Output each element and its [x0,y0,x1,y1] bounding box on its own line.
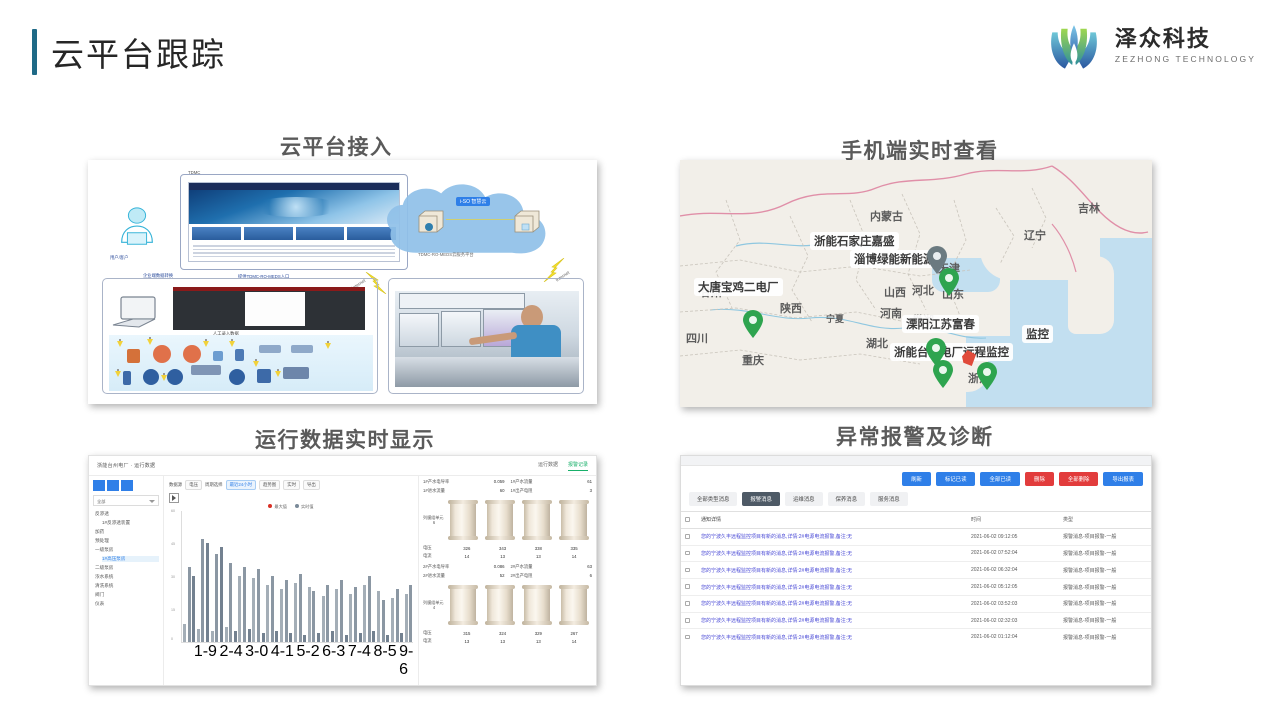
server-icon-2 [512,208,542,234]
valve-icon [117,339,123,347]
cloud-link-line [446,219,514,220]
alarm-table-row[interactable]: 您的宁波久丰远程监控项目有新的消息,详情:2#电源电流报警,备注:无2021-0… [681,579,1151,596]
alarm-message[interactable]: 您的宁波久丰远程监控项目有新的消息,详情:2#电源电流报警,备注:无 [697,595,967,612]
sidebar-tree-item[interactable]: 清洗系统 [95,583,159,589]
alarm-button-blue[interactable]: 导出报表 [1103,472,1143,486]
alarm-button-blue[interactable]: 刷新 [902,472,931,486]
alarm-button-red[interactable]: 全部删除 [1059,472,1099,486]
metric-label: 2#进水流量 [423,573,445,579]
chart-spike [285,580,288,642]
company-logo: 泽众科技 ZEZHONG TECHNOLOGY [1045,16,1256,74]
process-tank [291,345,313,353]
process-tank [283,367,309,379]
sidebar-tree-item[interactable]: 阀门 [95,592,159,598]
process-tank [127,349,140,363]
chart-spike [262,633,265,642]
chart-spike [257,569,260,642]
map-province-label: 四川 [686,330,708,346]
mobile-map-image: 内蒙古 吉林 辽宁 山西 河北 甘肃 陕西 河南 湖北 四川 重庆 巢湖 山东 … [680,160,1152,407]
chart-ytick: 45 [171,542,175,546]
current-row-1: 电流 14 13 13 14 [423,553,592,559]
row-checkbox-cell[interactable] [681,612,697,629]
membrane-module [524,585,550,625]
chart-spike [322,596,325,642]
chart-xtick: 5-2 [297,643,320,661]
alarm-time: 2021-06-02 09:12:05 [967,528,1059,545]
browser-hero-image [189,190,399,224]
cloud-tag-badge: i-SO 智慧云 [456,197,490,206]
current-value: 13 [500,554,505,559]
process-tank [235,349,244,361]
sidebar-tree-item[interactable]: 一级泵房 [95,547,159,553]
sidebar-select[interactable]: 全部 [93,495,159,506]
row-checkbox-cell[interactable] [681,629,697,645]
chart-spike [229,563,232,642]
map-province-label: 河南 [880,305,902,321]
membrane-module [524,500,550,540]
server-icon-1 [416,208,446,234]
portal-label: TDMC [188,170,200,175]
alarm-time: 2021-06-02 01:12:04 [967,629,1059,645]
metric-value: 52 [500,573,505,579]
map-pin-icon[interactable] [742,310,764,339]
control-room-photo [395,291,579,387]
alarm-tab[interactable]: 报警消息 [742,492,780,506]
chart-ytick: 60 [171,509,175,513]
sidebar-tree-item[interactable]: 1#反渗透装置 [102,520,159,526]
chart-toolbar-btn-export[interactable]: 导出 [303,480,320,490]
alarm-time: 2021-06-02 07:52:04 [967,545,1059,562]
chart-spike [271,576,274,642]
alarm-table-row[interactable]: 您的宁波久丰远程监控项目有新的消息,详情:2#电源电流报警,备注:无2021-0… [681,545,1151,562]
valve-icon [325,341,331,349]
tab-run-data[interactable]: 运行数据 [538,461,558,471]
chart-spike [396,589,399,642]
page-title: 云平台跟踪 [32,28,226,76]
chart-toolbar-select-range[interactable]: 最近24小时 [226,480,256,490]
portal-browser-mock [188,182,400,262]
sidebar-view-buttons[interactable] [93,480,159,491]
chart-spike [206,543,209,642]
checkbox-icon[interactable] [685,635,690,640]
chart-spike [299,574,302,642]
current-value: 14 [464,554,469,559]
alarm-tab[interactable]: 服务消息 [870,492,908,506]
voltage-value: 338 [535,546,542,551]
current-value: 13 [536,639,541,644]
metric-label: 2#产水电导率 [423,564,449,570]
alarm-type: 报警消息-项目报警-一般 [1059,545,1151,562]
chart-spike [386,635,389,642]
sidebar-tree-item[interactable]: 反渗透 [95,511,159,517]
platform-label: TDMC-RO-MEDS云服务平台 [418,252,474,258]
row-checkbox-cell[interactable] [681,579,697,596]
unit-value-1: 6 [423,520,445,525]
chart-spike [188,567,191,642]
lotus-logo-icon [1045,16,1103,74]
page-title-text: 云平台跟踪 [51,28,226,76]
filter-icon[interactable] [121,480,133,491]
chart-spike [248,629,251,642]
metric-label: 1#产水电导率 [423,479,449,485]
chart-xtick: 7-4 [348,643,371,661]
process-tank [167,369,183,385]
map-province-label: 陕西 [780,300,802,316]
voltage-row-2: 电压 315 324 329 267 [423,630,592,636]
cloud-architecture-image: 用户/客户 TDMC 提供TDMC-RO-MEDS入口 i-SO 智慧云 TDM… [88,160,597,404]
alarm-message[interactable]: 您的宁波久丰远程监控项目有新的消息,详情:2#电源电流报警,备注:无 [697,629,967,645]
chart-spike [354,587,357,642]
alarm-message[interactable]: 您的宁波久丰远程监控项目有新的消息,详情:2#电源电流报警,备注:无 [697,579,967,596]
realtime-dashboard-image: 浙能台州电厂 · 运行数据 运行数据 报警记录 全部 反渗透 1#反渗透装置 加… [88,455,597,686]
map-pin-icon[interactable] [938,268,960,297]
voltage-value: 315 [463,631,470,636]
chart-spike [335,589,338,642]
checkbox-icon[interactable] [685,568,690,573]
title-accent-bar [32,29,37,75]
alarm-table: 通知详情 时间 类型 您的宁波久丰远程监控项目有新的消息,详情:2#电源电流报警… [681,511,1151,645]
logo-text: 泽众科技 ZEZHONG TECHNOLOGY [1115,26,1256,63]
control-room-photo-frame: RO膜RO专家故障诊断 [388,278,584,394]
valve-icon [147,337,153,345]
membrane-module [450,500,476,540]
current-value: 14 [572,554,577,559]
alarm-window-titlebar [681,456,1151,466]
unit-label-2: 列膜组单元 [423,600,443,605]
chart-spike [220,547,223,642]
grid-icon[interactable] [107,480,119,491]
alarm-button-red[interactable]: 删除 [1025,472,1054,486]
alarm-button-blue[interactable]: 标记已读 [936,472,976,486]
metric-label: 2#产水流量 [511,564,533,570]
metric-value: 0.059 [494,479,505,485]
alarm-table-row[interactable]: 您的宁波久丰远程监控项目有新的消息,详情:2#电源电流报警,备注:无2021-0… [681,562,1151,579]
chart-spike [400,633,403,642]
sidebar-tree-item[interactable]: 仪表 [95,601,159,607]
play-button[interactable] [169,493,179,503]
chart-spike [192,576,195,642]
process-tank [183,345,201,363]
metric-row: 1#出产电阻3 [511,488,593,494]
process-tank [191,365,221,375]
col-header-time: 时间 [967,512,1059,529]
chart-toolbar: 数据源 电压 周期选择 最近24小时 趋势图 实时 导出 [169,480,413,490]
current-label: 电流 [423,638,449,644]
alarm-message[interactable]: 您的宁波久丰远程监控项目有新的消息,详情:2#电源电流报警,备注:无 [697,562,967,579]
alarm-table-image: 刷新标记已读全部已读删除全部删除导出报表 全部类型消息报警消息运维消息保养消息服… [680,455,1152,686]
chart-xtick: 8-5 [374,643,397,661]
metric-row: 1#进水流量60 [423,488,505,494]
current-label: 电流 [423,553,449,559]
chart-spike [312,591,315,642]
map-province-label: 重庆 [742,352,764,368]
chart-spike [243,567,246,642]
metric-label: 1#进水流量 [423,488,445,494]
metric-value: 60 [500,488,505,494]
current-value: 13 [536,554,541,559]
chart-spike [345,635,348,642]
process-tank [257,369,271,383]
chart-xaxis: 1-92-43-04-15-26-37-48-59-6 [181,643,413,651]
membrane-module-group-2 [445,585,592,625]
metric-label: 2#出产电阻 [511,573,533,579]
col-header-detail: 通知详情 [697,512,967,529]
voltage-value: 329 [535,631,542,636]
chart-toolbar-btn-trend[interactable]: 趋势图 [259,480,280,490]
legend-item-max: 最大值 [268,504,287,510]
alarm-time: 2021-06-02 06:32:04 [967,562,1059,579]
voltage-label: 电压 [423,545,449,551]
enterprise-screen-mock [173,287,365,330]
tab-alarm-records[interactable]: 报警记录 [568,461,588,471]
metric-row: 2#进水流量52 [423,573,505,579]
metric-label: 1#产水流量 [511,479,533,485]
chart-legend: 最大值 实时值 [169,504,413,510]
checkbox-icon[interactable] [685,551,690,556]
alarm-type: 报警消息-项目报警-一般 [1059,595,1151,612]
sidebar-select-value: 全部 [94,496,158,507]
metric-row: 2#产水电导率0.086 [423,564,505,570]
chart-spike [238,576,241,642]
chart-spike [294,583,297,642]
chart-spike [331,631,334,642]
chart-ytick: 15 [171,608,175,612]
row-checkbox-cell[interactable] [681,562,697,579]
current-value: 13 [500,639,505,644]
map-site-label[interactable]: 大唐宝鸡二电厂 [694,278,783,296]
sidebar-tree-item[interactable]: 预处理 [95,538,159,544]
dashboard-body: 全部 反渗透 1#反渗透装置 加药 预处理 一级泵房 1#高压泵房 二级泵房 浓… [89,476,596,686]
chart-toolbar-btn-live[interactable]: 实时 [283,480,300,490]
map-province-label: 宁夏 [826,312,844,325]
unit-value-2: 4 [423,605,445,610]
chart-spike [211,631,214,642]
row-checkbox-cell[interactable] [681,595,697,612]
membrane-module [487,500,513,540]
current-value: 13 [464,639,469,644]
dashboard-metrics-panel: 1#产水电导率0.059 1#进水流量60 1#产水流量61 1#出产电阻3 列… [418,476,596,686]
alarm-tab[interactable]: 运维消息 [785,492,823,506]
process-flow-diagram [109,335,373,391]
metric-value: 6 [590,573,592,579]
chart-spike [359,633,362,642]
sidebar-tree-item[interactable]: 浓水系统 [95,574,159,580]
chart-spike [303,635,306,642]
enterprise-label: 企业端数据转换 [143,273,173,279]
monitor-screen [399,313,439,347]
metric-label: 1#出产电阻 [511,488,533,494]
alarm-time: 2021-06-02 05:12:05 [967,579,1059,596]
dashboard-tabs: 运行数据 报警记录 [538,461,588,471]
valve-icon [253,359,259,367]
row-checkbox-cell[interactable] [681,545,697,562]
chart-spike [275,631,278,642]
chart-spike [377,591,380,642]
browser-titlebar [189,183,399,190]
metric-row: 2#出产电阻6 [511,573,593,579]
map-site-label[interactable]: 溧阳江苏富春 [902,315,979,333]
chart-spike [349,594,352,642]
chart-xtick: 4-1 [271,643,294,661]
alarm-type: 报警消息-项目报警-一般 [1059,562,1151,579]
chart-spike [368,576,371,642]
checkbox-icon[interactable] [685,584,690,589]
alarm-table-row[interactable]: 您的宁波久丰远程监控项目有新的消息,详情:2#电源电流报警,备注:无2021-0… [681,528,1151,545]
metric-value: 63 [587,564,592,570]
alarm-table-row[interactable]: 您的宁波久丰远程监控项目有新的消息,详情:2#电源电流报警,备注:无2021-0… [681,612,1151,629]
chart-plot-area[interactable]: 60 45 30 15 0 [181,511,413,643]
metric-row: 1#产水流量61 [511,479,593,485]
user-label: 用户/客户 [110,255,128,261]
voltage-value: 267 [571,631,578,636]
chart-spike [317,633,320,642]
map-pin-icon[interactable] [932,360,954,389]
col-header-type: 类型 [1059,512,1151,529]
valve-icon [161,373,167,381]
dashboard-sidebar: 全部 反渗透 1#反渗透装置 加药 预处理 一级泵房 1#高压泵房 二级泵房 浓… [89,476,164,686]
map-province-label: 湖北 [866,335,888,351]
voltage-value: 343 [499,546,506,551]
chart-xtick: 2-4 [220,643,243,661]
alarm-message[interactable]: 您的宁波久丰远程监控项目有新的消息,详情:2#电源电流报警,备注:无 [697,612,967,629]
chart-spike [225,627,228,642]
sidebar-tree-item[interactable]: 二级泵房 [95,565,159,571]
process-tank [123,371,131,385]
chart-spike [405,594,408,642]
alarm-message[interactable]: 您的宁波久丰远程监控项目有新的消息,详情:2#电源电流报警,备注:无 [697,528,967,545]
chart-spike [201,539,204,642]
valve-icon [229,339,235,347]
chart-spike [308,587,311,642]
browser-text-lines [189,243,399,261]
chart-spike [289,633,292,642]
alarm-type: 报警消息-项目报警-一般 [1059,612,1151,629]
map-province-label: 河北 [912,282,934,298]
chart-toolbar-label-source: 数据源 [169,482,182,488]
membrane-module [561,500,587,540]
map-pin-icon[interactable] [976,362,998,391]
logo-en-name: ZEZHONG TECHNOLOGY [1115,54,1256,64]
row-checkbox-cell[interactable] [681,528,697,545]
map-province-label: 吉林 [1078,200,1100,216]
process-tank [153,345,171,363]
dashboard-topbar: 浙能台州电厂 · 运行数据 运行数据 报警记录 [89,456,596,476]
checkbox-icon[interactable] [685,517,690,522]
desktop-computer-icon [111,295,163,329]
chart-spike [340,580,343,642]
metric-value: 0.086 [494,564,505,570]
membrane-module-group-1 [445,500,592,540]
chart-xtick: 3-0 [245,643,268,661]
chart-toolbar-label-period: 周期选择 [205,482,223,488]
alarm-tab[interactable]: 保养消息 [828,492,866,506]
alarm-type: 报警消息-项目报警-一般 [1059,629,1151,645]
alarm-table-row[interactable]: 您的宁波久丰远程监控项目有新的消息,详情:2#电源电流报警,备注:无2021-0… [681,629,1151,645]
alarm-time: 2021-06-02 02:32:03 [967,612,1059,629]
chart-spike [197,629,200,642]
chart-spike [252,578,255,642]
current-value: 14 [572,639,577,644]
process-tank [213,351,223,361]
control-desk [395,357,579,387]
sidebar-tree-item-active[interactable]: 1#高压泵房 [102,556,159,562]
alarm-action-buttons: 刷新标记已读全部已读删除全部删除导出报表 [681,466,1151,490]
dashboard-chart-area: 数据源 电压 周期选择 最近24小时 趋势图 实时 导出 最大值 实时值 60 … [164,476,418,686]
map-site-label[interactable]: 监控 [1022,325,1053,343]
map-site-label[interactable]: 浙能台州电厂远程监控 [890,343,1013,361]
alarm-message[interactable]: 您的宁波久丰远程监控项目有新的消息,详情:2#电源电流报警,备注:无 [697,545,967,562]
chart-xtick: 6-3 [322,643,345,661]
alarm-table-row[interactable]: 您的宁波久丰远程监控项目有新的消息,详情:2#电源电流报警,备注:无2021-0… [681,595,1151,612]
chart-spike [183,624,186,642]
chart-spike [391,598,394,642]
checkbox-icon[interactable] [685,601,690,606]
chart-spike [363,585,366,642]
alarm-type: 报警消息-项目报警-一般 [1059,528,1151,545]
alarm-time: 2021-06-02 03:52:03 [967,595,1059,612]
chart-spike [326,585,329,642]
section-title-realtime-data: 运行数据实时显示 [255,424,435,454]
chart-toolbar-select-signal[interactable]: 电压 [185,480,202,490]
metric-value: 3 [590,488,592,494]
alarm-type: 报警消息-项目报警-一般 [1059,579,1151,596]
chart-spike [234,631,237,642]
process-tank [143,369,159,385]
chart-spike [266,585,269,642]
process-tank [229,369,245,385]
process-tank [259,345,281,353]
checkbox-icon[interactable] [685,534,690,539]
enterprise-section-frame: 企业端数据转换 人工录入数据 [102,278,378,394]
metric-row: 2#产水流量63 [511,564,593,570]
list-icon[interactable] [93,480,105,491]
alarm-tab[interactable]: 全部类型消息 [689,492,737,506]
sidebar-tree-item[interactable]: 加药 [95,529,159,535]
chart-spike [215,554,218,642]
alarm-button-blue[interactable]: 全部已读 [980,472,1020,486]
dashboard-breadcrumb: 浙能台州电厂 · 运行数据 [97,462,155,469]
membrane-module [561,585,587,625]
alarm-filter-tabs: 全部类型消息报警消息运维消息保养消息服务消息 [681,490,1151,511]
section-title-cloud-access: 云平台接入 [280,131,393,161]
chart-xtick: 1-9 [194,643,217,661]
alarm-table-header-row: 通知详情 时间 类型 [681,512,1151,529]
alarm-table-body: 您的宁波久丰远程监控项目有新的消息,详情:2#电源电流报警,备注:无2021-0… [681,528,1151,645]
logo-cn-name: 泽众科技 [1115,26,1256,51]
chart-spike [372,631,375,642]
chart-spike [382,600,385,642]
metric-value: 61 [587,479,592,485]
current-row-2: 电流 13 13 13 14 [423,638,592,644]
checkbox-icon[interactable] [685,618,690,623]
chart-spike [280,589,283,642]
voltage-label: 电压 [423,630,449,636]
membrane-module [450,585,476,625]
map-province-label: 辽宁 [1024,227,1046,243]
chart-ytick: 30 [171,575,175,579]
metric-row: 1#产水电导率0.059 [423,479,505,485]
map-site-label[interactable]: 浙能石家庄嘉盛 [810,232,899,250]
select-all-header[interactable] [681,512,697,529]
membrane-module [487,585,513,625]
section-title-alarm-diag: 异常报警及诊断 [836,421,994,451]
voltage-value: 324 [499,631,506,636]
valve-icon [203,339,209,347]
valve-icon [115,369,121,377]
voltage-value: 326 [463,546,470,551]
map-province-label: 内蒙古 [870,208,903,224]
voltage-row-1: 电压 326 343 338 335 [423,545,592,551]
